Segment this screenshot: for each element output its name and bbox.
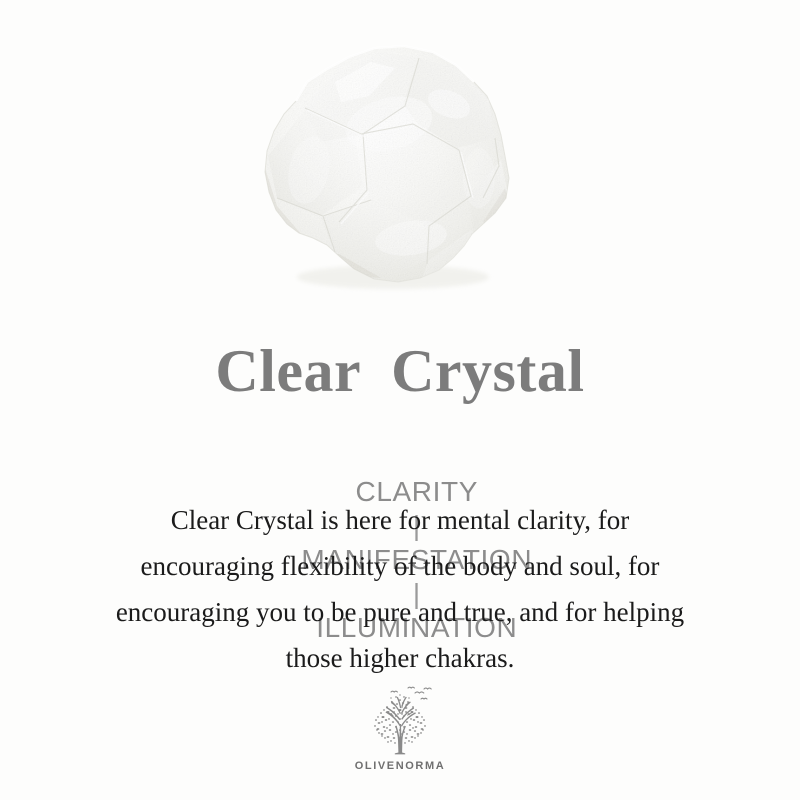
description-line: encouraging you to be pure and true, and… xyxy=(40,589,760,635)
brand-name: OLIVENORMA xyxy=(355,760,446,772)
description-line: those higher chakras. xyxy=(40,635,760,681)
brand-logo: OLIVENORMA xyxy=(0,684,800,772)
crystal-facets xyxy=(243,38,521,293)
product-title: Clear Crystal xyxy=(0,336,800,406)
clear-quartz-crystal-icon xyxy=(243,38,521,293)
product-image-area xyxy=(0,0,800,310)
tree-with-birds-icon xyxy=(358,684,442,758)
product-image xyxy=(243,38,521,293)
product-description: Clear Crystal is here for mental clarity… xyxy=(40,497,760,681)
description-line: Clear Crystal is here for mental clarity… xyxy=(40,497,760,543)
product-card: Clear Crystal CLARITY | MANIFESTATION | … xyxy=(0,0,800,800)
description-line: encouraging flexibility of the body and … xyxy=(40,543,760,589)
